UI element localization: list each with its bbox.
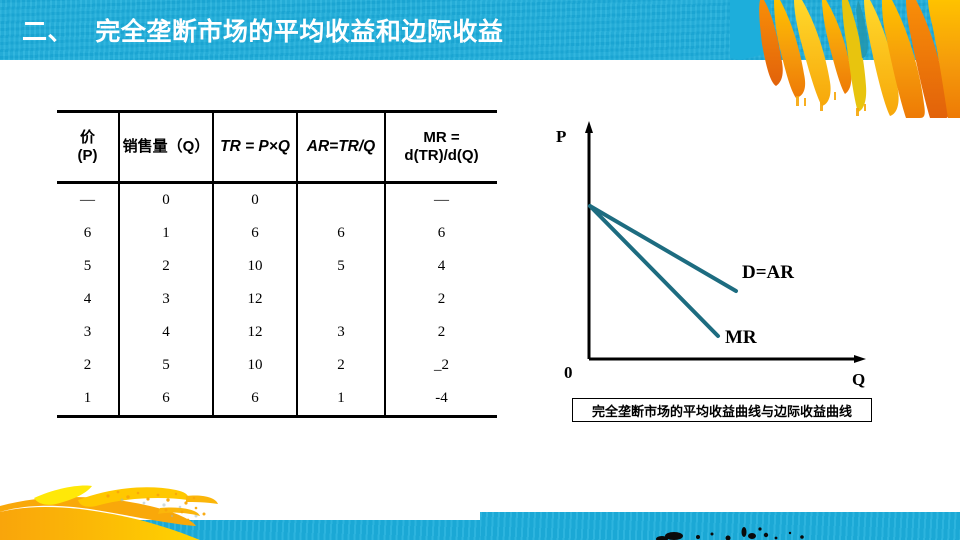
chart-svg — [530, 105, 890, 395]
col-header-average-revenue: AR=TR/Q — [297, 112, 385, 183]
cell-marginal-revenue: 2 — [385, 316, 497, 349]
chart-caption-text: 完全垄断市场的平均收益曲线与边际收益曲线 — [592, 401, 852, 420]
cell-total-revenue: 6 — [213, 217, 297, 250]
origin-label: 0 — [564, 363, 573, 383]
cell-total-revenue: 12 — [213, 283, 297, 316]
cell-marginal-revenue: -4 — [385, 382, 497, 417]
table-header: 价(P) 销售量（Q） TR = P×Q AR=TR/Q MR =d(TR)/d… — [57, 112, 497, 183]
cell-marginal-revenue: — — [385, 183, 497, 218]
cell-quantity: 2 — [119, 250, 213, 283]
cell-total-revenue: 12 — [213, 316, 297, 349]
revenue-data-table: 价(P) 销售量（Q） TR = P×Q AR=TR/Q MR =d(TR)/d… — [57, 110, 497, 418]
bottom-accent-bar-left — [0, 520, 480, 540]
col-header-marginal-revenue: MR =d(TR)/d(Q) — [385, 112, 497, 183]
cell-marginal-revenue: 4 — [385, 250, 497, 283]
table-row: — 0 0 — — [57, 183, 497, 218]
table-body: — 0 0 — 6 1 6 6 6 5 2 10 5 4 4 — [57, 183, 497, 417]
cell-price: 6 — [57, 217, 119, 250]
cell-price: 3 — [57, 316, 119, 349]
slide-header-band: 二、 完全垄断市场的平均收益和边际收益 — [0, 0, 960, 60]
cell-quantity: 1 — [119, 217, 213, 250]
table-header-row: 价(P) 销售量（Q） TR = P×Q AR=TR/Q MR =d(TR)/d… — [57, 112, 497, 183]
cell-total-revenue: 10 — [213, 250, 297, 283]
y-axis-label: P — [556, 127, 566, 147]
table-row: 1 6 6 1 -4 — [57, 382, 497, 417]
cell-average-revenue: 6 — [297, 217, 385, 250]
y-axis-arrow — [585, 121, 593, 133]
cell-average-revenue: 5 — [297, 250, 385, 283]
cell-quantity: 3 — [119, 283, 213, 316]
col-header-mr-line2: d(TR)/d(Q) — [404, 147, 478, 164]
x-axis-arrow — [854, 355, 866, 363]
cell-marginal-revenue: _2 — [385, 349, 497, 382]
cell-price: 2 — [57, 349, 119, 382]
cell-quantity: 5 — [119, 349, 213, 382]
table-row: 5 2 10 5 4 — [57, 250, 497, 283]
page-title: 二、 完全垄断市场的平均收益和边际收益 — [22, 12, 503, 48]
cell-price: 5 — [57, 250, 119, 283]
cell-marginal-revenue: 2 — [385, 283, 497, 316]
col-header-price: 价(P) — [57, 112, 119, 183]
table-row: 2 5 10 2 _2 — [57, 349, 497, 382]
table-row: 6 1 6 6 6 — [57, 217, 497, 250]
cell-quantity: 0 — [119, 183, 213, 218]
table-row: 4 3 12 2 — [57, 283, 497, 316]
cell-total-revenue: 0 — [213, 183, 297, 218]
cell-price: — — [57, 183, 119, 218]
slide-canvas: 二、 完全垄断市场的平均收益和边际收益 — [0, 0, 960, 540]
col-header-mr-line1: MR = — [423, 129, 459, 146]
col-header-price-line2: (P) — [78, 147, 98, 164]
cell-price: 4 — [57, 283, 119, 316]
table-row: 3 4 12 3 2 — [57, 316, 497, 349]
cell-total-revenue: 6 — [213, 382, 297, 417]
col-header-price-line1: 价 — [80, 129, 95, 146]
cell-quantity: 6 — [119, 382, 213, 417]
cell-total-revenue: 10 — [213, 349, 297, 382]
cell-price: 1 — [57, 382, 119, 417]
cell-quantity: 4 — [119, 316, 213, 349]
cell-average-revenue — [297, 183, 385, 218]
cell-average-revenue: 2 — [297, 349, 385, 382]
revenue-curves-chart: P 0 Q D=AR MR — [530, 105, 890, 395]
cell-average-revenue — [297, 283, 385, 316]
col-header-total-revenue: TR = P×Q — [213, 112, 297, 183]
x-axis-label: Q — [852, 370, 865, 390]
marginal-revenue-curve-label: MR — [725, 327, 757, 349]
chart-caption-box: 完全垄断市场的平均收益曲线与边际收益曲线 — [572, 398, 872, 422]
bottom-accent-bar-right — [480, 512, 960, 540]
cell-average-revenue: 1 — [297, 382, 385, 417]
cell-average-revenue: 3 — [297, 316, 385, 349]
cell-marginal-revenue: 6 — [385, 217, 497, 250]
col-header-quantity: 销售量（Q） — [119, 112, 213, 183]
demand-ar-curve-label: D=AR — [742, 262, 794, 284]
